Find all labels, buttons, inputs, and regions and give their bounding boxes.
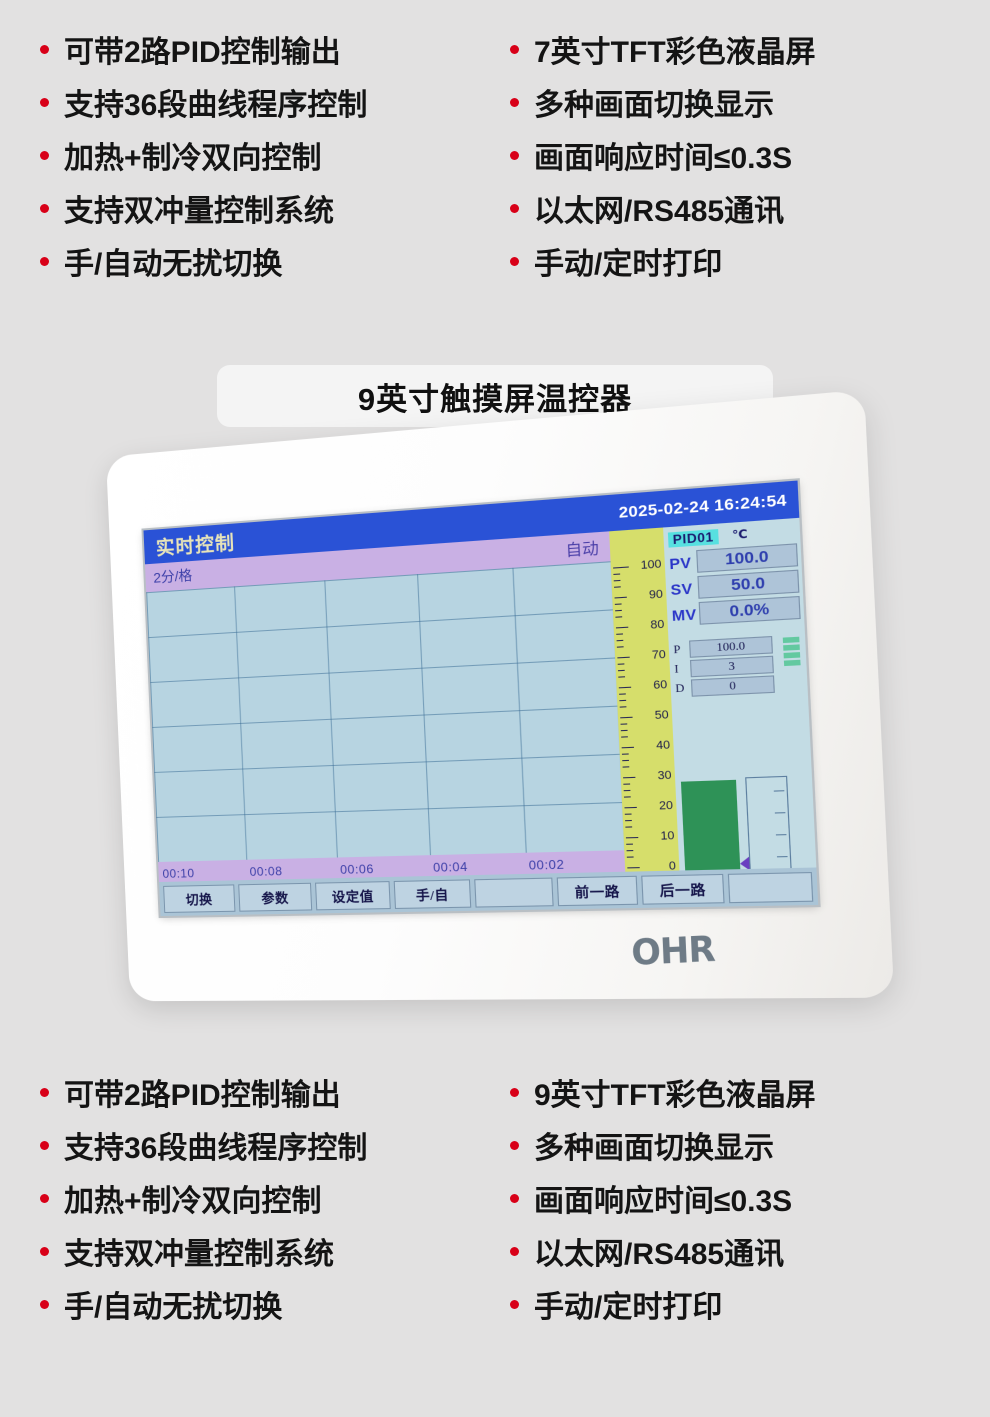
feature-column-right: 9英寸TFT彩色液晶屏 多种画面切换显示 画面响应时间≤0.3S 以太网/RS4…: [510, 1065, 950, 1330]
value-key: PV: [669, 553, 697, 572]
ruler-minor-tick: [615, 616, 622, 617]
time-tick: 00:08: [249, 864, 282, 879]
ruler-minor-tick: [618, 670, 625, 671]
feature-text: 画面响应时间≤0.3S: [534, 133, 792, 177]
ruler-major-tick: [613, 566, 629, 568]
ruler-minor-tick: [613, 573, 620, 575]
feature-item: 画面响应时间≤0.3S: [510, 128, 950, 181]
feature-text: 9英寸TFT彩色液晶屏: [534, 1070, 816, 1114]
feature-text: 可带2路PID控制输出: [64, 27, 341, 71]
feature-text: 手动/定时打印: [534, 1282, 722, 1326]
ruler-minor-tick: [614, 586, 621, 587]
ruler-minor-tick: [618, 676, 625, 677]
ruler-minor-tick: [626, 844, 633, 845]
status-led-icon: [783, 644, 800, 650]
ruler-minor-tick: [625, 814, 632, 815]
feature-item: 加热+制冷双向控制: [40, 128, 510, 181]
ruler-minor-tick: [615, 610, 622, 611]
param-value[interactable]: 100.0: [689, 636, 773, 658]
ruler-minor-tick: [623, 783, 630, 784]
feature-item: 手/自动无扰切换: [40, 234, 510, 287]
time-tick: 00:02: [528, 857, 564, 873]
pid-parameters: P 100.0 I 3 D 0: [673, 634, 804, 697]
ruler-minor-tick: [618, 663, 625, 664]
bullet-icon: [40, 1141, 49, 1150]
feature-item: 可带2路PID控制输出: [40, 1065, 510, 1118]
ruler-minor-tick: [617, 640, 624, 641]
value-display[interactable]: 100.0: [696, 543, 798, 573]
feature-text: 7英寸TFT彩色液晶屏: [534, 27, 816, 71]
ruler-minor-tick: [622, 753, 629, 754]
feature-text: 支持36段曲线程序控制: [64, 80, 367, 124]
bullet-icon: [510, 1088, 519, 1097]
feature-text: 加热+制冷双向控制: [64, 1176, 322, 1220]
ruler-minor-tick: [620, 706, 627, 707]
feature-list-bottom: 可带2路PID控制输出 支持36段曲线程序控制 加热+制冷双向控制 支持双冲量控…: [0, 1051, 990, 1330]
feature-item: 手动/定时打印: [510, 234, 950, 287]
feature-item: 支持36段曲线程序控制: [40, 75, 510, 128]
bullet-icon: [40, 1194, 49, 1203]
chart-scale-label: 2分/格: [153, 565, 193, 588]
device-photo: 实时控制 2025-02-24 16:24:54 2分/格 自动 00:10 0…: [0, 451, 990, 1051]
param-row: I 3: [674, 656, 774, 678]
value-key: SV: [670, 579, 698, 598]
ruler-minor-tick: [627, 856, 634, 857]
y-tick-label: 20: [659, 799, 674, 812]
feature-item: 画面响应时间≤0.3S: [510, 1171, 950, 1224]
bullet-icon: [510, 1247, 519, 1256]
ruler-minor-tick: [621, 723, 628, 724]
ruler-minor-tick: [623, 766, 630, 767]
bullet-icon: [510, 1300, 519, 1309]
bullet-icon: [40, 151, 49, 160]
bullet-icon: [510, 45, 519, 54]
screen-title: 实时控制: [155, 527, 235, 560]
param-key: D: [675, 682, 692, 696]
mv-scale-tick: [774, 790, 785, 791]
ruler-minor-tick: [621, 736, 628, 737]
ruler-minor-tick: [625, 826, 632, 827]
status-led-icon: [784, 660, 801, 666]
y-tick-label: 60: [653, 678, 667, 692]
chart-grid: [146, 561, 624, 862]
pid-channel-tag[interactable]: PID01: [668, 528, 719, 547]
ruler-major-tick: [624, 807, 636, 808]
ruler-minor-tick: [617, 646, 624, 647]
ruler-minor-tick: [624, 796, 631, 797]
time-tick: 00:04: [433, 859, 468, 874]
feature-text: 多种画面切换显示: [534, 80, 774, 124]
feature-item: 手/自动无扰切换: [40, 1277, 510, 1330]
status-led-group: [783, 637, 801, 666]
feature-text: 可带2路PID控制输出: [64, 1070, 341, 1114]
feature-item: 以太网/RS485通讯: [510, 1224, 950, 1277]
feature-text: 加热+制冷双向控制: [64, 133, 322, 177]
feature-item: 9英寸TFT彩色液晶屏: [510, 1065, 950, 1118]
ruler-minor-tick: [616, 633, 623, 634]
screen-datetime: 2025-02-24 16:24:54: [618, 491, 787, 522]
y-tick-label: 50: [654, 709, 668, 723]
ruler-minor-tick: [615, 603, 622, 604]
feature-text: 支持双冲量控制系统: [64, 1229, 334, 1273]
ruler-major-tick: [627, 867, 639, 868]
ruler-minor-tick: [619, 693, 626, 694]
feature-item: 支持双冲量控制系统: [40, 181, 510, 234]
bullet-icon: [510, 204, 519, 213]
feature-text: 支持36段曲线程序控制: [64, 1123, 367, 1167]
feature-text: 以太网/RS485通讯: [534, 1229, 784, 1273]
param-row: D 0: [675, 675, 775, 697]
value-display[interactable]: 0.0%: [699, 596, 801, 625]
ruler-minor-tick: [621, 730, 628, 731]
ruler-major-tick: [626, 837, 638, 838]
ruler-major-tick: [615, 597, 627, 599]
feature-column-left: 可带2路PID控制输出 支持36段曲线程序控制 加热+制冷双向控制 支持双冲量控…: [40, 1065, 510, 1330]
feature-item: 可带2路PID控制输出: [40, 22, 510, 75]
feature-item: 手动/定时打印: [510, 1277, 950, 1330]
ruler-minor-tick: [619, 700, 626, 701]
feature-item: 多种画面切换显示: [510, 1118, 950, 1171]
feature-item: 多种画面切换显示: [510, 75, 950, 128]
feature-item: 支持双冲量控制系统: [40, 1224, 510, 1277]
feature-item: 7英寸TFT彩色液晶屏: [510, 22, 950, 75]
screen-button-setpoint[interactable]: 设定值: [315, 881, 391, 910]
ruler-major-tick: [622, 747, 634, 749]
feature-text: 以太网/RS485通讯: [534, 186, 784, 230]
y-tick-label: 90: [649, 588, 663, 602]
status-led-icon: [783, 637, 800, 643]
screen-button-prev-channel[interactable]: 前一路: [557, 875, 638, 905]
bullet-icon: [510, 1141, 519, 1150]
ruler-minor-tick: [614, 580, 621, 581]
ruler-minor-tick: [627, 850, 634, 851]
screen-button-blank-1[interactable]: [474, 877, 553, 907]
feature-column-right: 7英寸TFT彩色液晶屏 多种画面切换显示 画面响应时间≤0.3S 以太网/RS4…: [510, 22, 950, 287]
y-tick-label: 10: [660, 830, 675, 843]
screen-button-next-channel[interactable]: 后一路: [641, 873, 724, 904]
screen-body: 2分/格 自动 00:10 00:08 00:06 00:04 00:02 10…: [145, 518, 818, 916]
ruler-major-tick: [617, 657, 629, 659]
bullet-icon: [40, 1088, 49, 1097]
feature-column-left: 可带2路PID控制输出 支持36段曲线程序控制 加热+制冷双向控制 支持双冲量控…: [40, 22, 510, 287]
bullet-icon: [510, 151, 519, 160]
bullet-icon: [40, 257, 49, 266]
value-key: MV: [671, 605, 699, 624]
bullet-icon: [40, 98, 49, 107]
screen-button-manual-auto[interactable]: 手/自: [394, 879, 472, 909]
time-tick: 00:10: [162, 866, 195, 881]
feature-text: 支持双冲量控制系统: [64, 186, 334, 230]
y-tick-label: 100: [640, 558, 661, 572]
param-value[interactable]: 3: [690, 656, 774, 678]
value-row: SV 50.0: [670, 570, 799, 601]
y-tick-label: 30: [657, 769, 671, 782]
status-led-icon: [784, 652, 801, 658]
bullet-icon: [40, 1247, 49, 1256]
ruler-minor-tick: [625, 820, 632, 821]
mv-scale-tick: [775, 812, 786, 813]
feature-text: 画面响应时间≤0.3S: [534, 1176, 792, 1220]
param-key: I: [674, 662, 691, 676]
ruler-major-tick: [616, 627, 628, 629]
bullet-icon: [510, 257, 519, 266]
y-tick-label: 40: [656, 739, 670, 752]
bullet-icon: [40, 1300, 49, 1309]
ruler-minor-tick: [622, 760, 629, 761]
feature-item: 加热+制冷双向控制: [40, 1171, 510, 1224]
trend-chart[interactable]: 2分/格 自动 00:10 00:08 00:06 00:04 00:02: [145, 531, 627, 916]
bullet-icon: [510, 98, 519, 107]
mv-scale-tick: [777, 856, 788, 857]
ruler-major-tick: [620, 717, 632, 719]
y-tick-label: 70: [652, 648, 666, 662]
screen-button-blank-2[interactable]: [728, 871, 813, 902]
bullet-icon: [510, 1194, 519, 1203]
feature-text: 手/自动无扰切换: [64, 1282, 282, 1326]
page-title: 9英寸触摸屏温控器: [358, 374, 632, 419]
ruler-major-tick: [619, 687, 631, 689]
temperature-unit-label: ℃: [732, 527, 748, 542]
pid-data-panel: PID01 ℃ PV 100.0 SV 50.0 MV 0.0%: [663, 518, 818, 907]
time-tick: 00:06: [340, 862, 374, 877]
feature-item: 以太网/RS485通讯: [510, 181, 950, 234]
param-value[interactable]: 0: [691, 675, 775, 696]
mv-scale-tick: [776, 834, 787, 835]
bullet-icon: [40, 204, 49, 213]
screen-button-params[interactable]: 参数: [238, 882, 312, 911]
screen-button-switch[interactable]: 切换: [163, 884, 235, 913]
brand-logo: OHR: [631, 929, 716, 974]
value-display[interactable]: 50.0: [697, 570, 799, 599]
feature-list-top: 可带2路PID控制输出 支持36段曲线程序控制 加热+制冷双向控制 支持双冲量控…: [0, 0, 990, 287]
ruler-major-tick: [623, 777, 635, 779]
chart-mode-label: 自动: [565, 536, 599, 561]
value-row: MV 0.0%: [671, 596, 800, 626]
bullet-icon: [40, 45, 49, 54]
feature-text: 手/自动无扰切换: [64, 239, 282, 283]
feature-text: 多种画面切换显示: [534, 1123, 774, 1167]
device-lcd-screen: 实时控制 2025-02-24 16:24:54 2分/格 自动 00:10 0…: [143, 481, 818, 917]
feature-text: 手动/定时打印: [534, 239, 722, 283]
param-row: P 100.0: [673, 636, 773, 659]
param-key: P: [673, 643, 690, 657]
ruler-minor-tick: [624, 790, 631, 791]
y-tick-label: 80: [650, 618, 664, 632]
feature-item: 支持36段曲线程序控制: [40, 1118, 510, 1171]
